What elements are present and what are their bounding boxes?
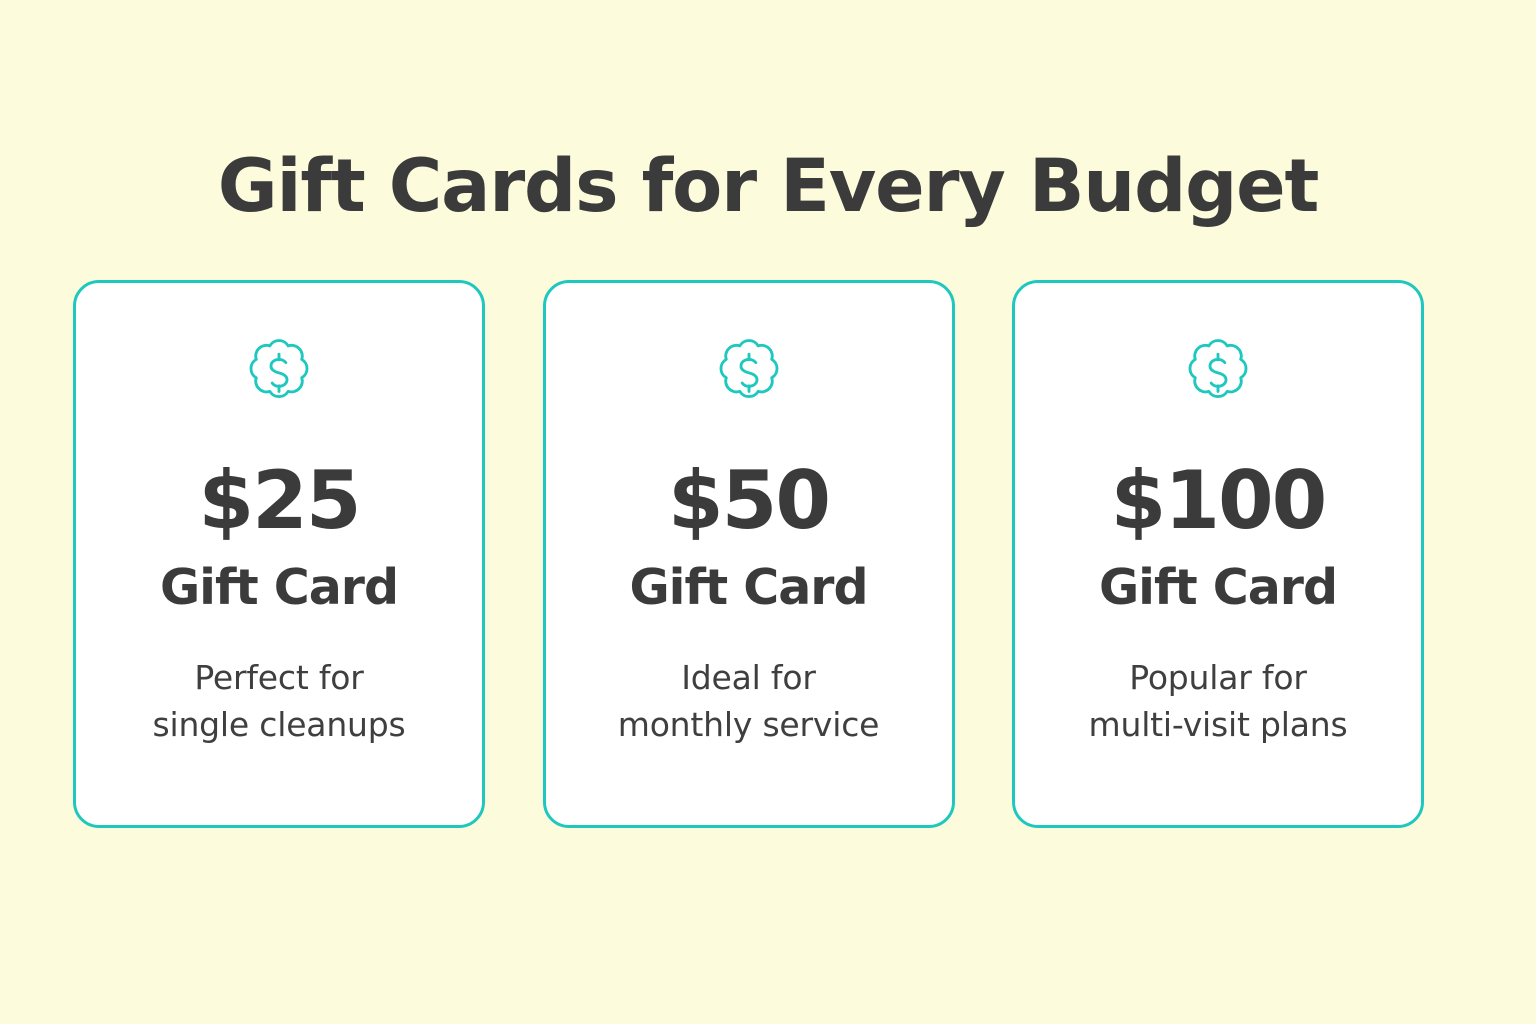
card-description: Ideal for monthly service — [618, 655, 880, 749]
dollar-badge-icon — [709, 335, 789, 415]
dollar-badge-icon — [239, 335, 319, 415]
dollar-badge-icon — [1178, 335, 1258, 415]
page-title: Gift Cards for Every Budget — [0, 150, 1536, 223]
card-description: Popular for multi-visit plans — [1089, 655, 1348, 749]
card-amount: $50 — [668, 461, 829, 541]
gift-card-option-50[interactable]: $50 Gift Card Ideal for monthly service — [543, 280, 955, 828]
gift-card-option-25[interactable]: $25 Gift Card Perfect for single cleanup… — [73, 280, 485, 828]
gift-card-promo-graphic: Gift Cards for Every Budget $25 Gift Car… — [0, 0, 1536, 1024]
gift-card-list: $25 Gift Card Perfect for single cleanup… — [73, 280, 1424, 828]
card-subtitle: Gift Card — [629, 563, 867, 612]
card-description: Perfect for single cleanups — [153, 655, 406, 749]
card-amount: $25 — [199, 461, 360, 541]
gift-card-option-100[interactable]: $100 Gift Card Popular for multi-visit p… — [1012, 280, 1424, 828]
card-subtitle: Gift Card — [1099, 563, 1337, 612]
card-amount: $100 — [1111, 461, 1326, 541]
card-subtitle: Gift Card — [160, 563, 398, 612]
